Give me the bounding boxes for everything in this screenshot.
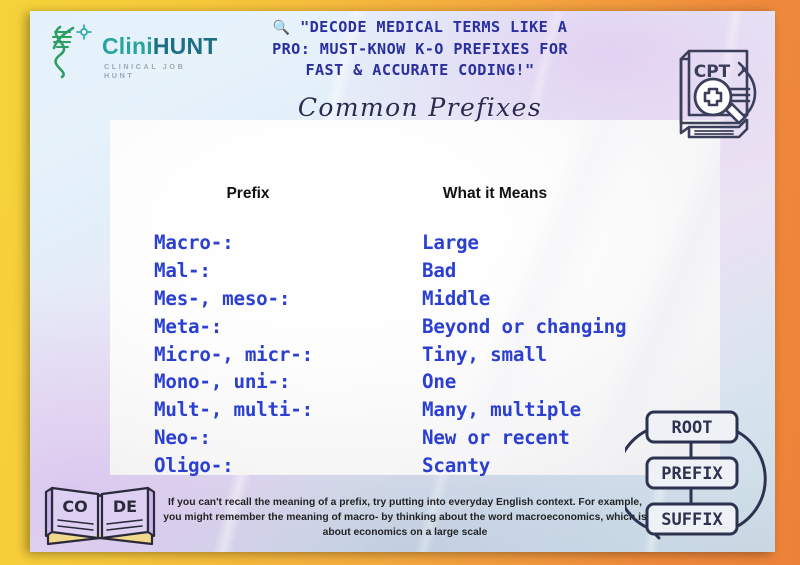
meaning-cell: One: [422, 368, 456, 396]
meaning-cell: Tiny, small: [422, 341, 547, 369]
prefix-cell: Mult-, multi-:: [154, 396, 422, 424]
term-label-prefix: PREFIX: [661, 464, 723, 484]
table-row: Neo-:New or recent: [154, 424, 626, 452]
term-structure-diagram: ROOT PREFIX SUFFIX: [625, 402, 770, 552]
code-book-label-left: CO: [62, 497, 87, 516]
table-row: Oligo-:Scanty: [154, 452, 626, 480]
brand-tagline: CLINICAL JOB HUNT: [104, 62, 210, 80]
headline: 🔍 "DECODE MEDICAL TERMS LIKE A PRO: MUST…: [210, 17, 630, 81]
meaning-cell: Many, multiple: [422, 396, 581, 424]
prefix-cell: Meta-:: [154, 313, 422, 341]
meaning-cell: Large: [422, 229, 479, 257]
prefix-cell: Oligo-:: [154, 452, 422, 480]
prefix-cell: Micro-, micr-:: [154, 341, 422, 369]
brand-name: CliniHUNT: [102, 33, 218, 60]
prefix-cell: Mal-:: [154, 257, 422, 285]
poster-inner-panel: CliniHUNT CLINICAL JOB HUNT 🔍 "DECODE ME…: [30, 11, 775, 552]
column-header-prefix: Prefix: [143, 185, 353, 203]
open-book-icon: CO DE: [38, 474, 163, 552]
brand-logo: CliniHUNT CLINICAL JOB HUNT: [40, 21, 210, 83]
meaning-cell: Bad: [422, 257, 456, 285]
brand-name-part2: HUNT: [153, 33, 218, 59]
prefix-cell: Macro-:: [154, 229, 422, 257]
prefix-cell: Mes-, meso-:: [154, 285, 422, 313]
table-row: Mult-, multi-:Many, multiple: [154, 396, 626, 424]
meaning-cell: New or recent: [422, 424, 570, 452]
table-row: Macro-:Large: [154, 229, 626, 257]
table-row: Micro-, micr-:Tiny, small: [154, 341, 626, 369]
magnifier-icon: 🔍: [273, 20, 291, 36]
column-header-meaning: What it Means: [380, 185, 610, 203]
prefix-cell: Mono-, uni-:: [154, 368, 422, 396]
footnote-text: If you can't recall the meaning of a pre…: [160, 495, 650, 541]
table-row: Meta-:Beyond or changing: [154, 313, 626, 341]
meaning-cell: Middle: [422, 285, 490, 313]
script-subtitle: Common Prefixes: [210, 93, 630, 122]
headline-line-3: FAST & ACCURATE CODING!": [305, 61, 534, 79]
prefix-cell: Neo-:: [154, 424, 422, 452]
prefix-table: Macro-:LargeMal-:BadMes-, meso-:MiddleMe…: [154, 229, 626, 480]
table-row: Mes-, meso-:Middle: [154, 285, 626, 313]
dna-helix-icon: [40, 21, 98, 81]
brand-name-part1: Clini: [102, 33, 153, 59]
meaning-cell: Beyond or changing: [422, 313, 626, 341]
term-label-suffix: SUFFIX: [661, 510, 723, 530]
term-label-root: ROOT: [672, 418, 713, 438]
code-book-label-right: DE: [113, 497, 137, 516]
headline-line-1: "DECODE MEDICAL TERMS LIKE A: [300, 18, 567, 36]
table-row: Mono-, uni-:One: [154, 368, 626, 396]
headline-line-2: PRO: MUST-KNOW K-O PREFIXES FOR: [272, 40, 568, 58]
poster-canvas: CliniHUNT CLINICAL JOB HUNT 🔍 "DECODE ME…: [0, 0, 800, 565]
cpt-book-magnifier-icon: CPT: [659, 41, 769, 151]
table-row: Mal-:Bad: [154, 257, 626, 285]
meaning-cell: Scanty: [422, 452, 490, 480]
